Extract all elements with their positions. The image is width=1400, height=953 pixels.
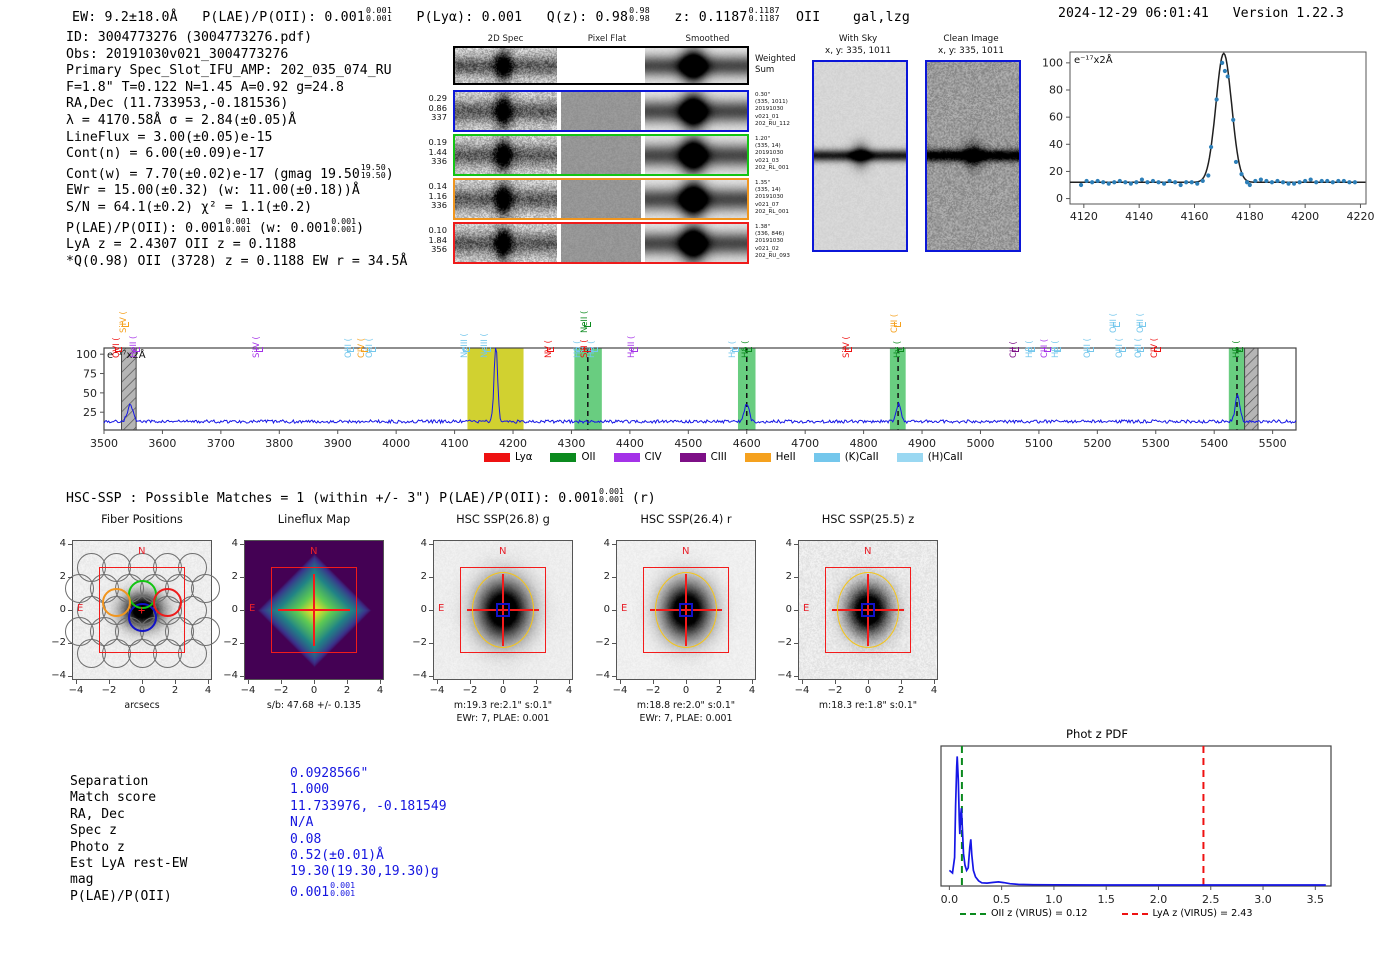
spec2d-row-meta-0: 0.30" (335, 1011) 20191030 v021_01 202_R… <box>755 92 790 128</box>
spec2d-row-stats-2: 0.14 1.16 336 <box>403 182 447 211</box>
svg-text:4000: 4000 <box>382 437 410 450</box>
legend-label-2: CIV <box>645 452 662 463</box>
xtick-mark-0-3 <box>175 680 176 684</box>
info-line-13: *Q(0.98) OII (3728) z = 0.1188 EW r = 34… <box>66 254 407 271</box>
svg-text:5300: 5300 <box>1142 437 1170 450</box>
ytick-mark-3-4 <box>612 544 616 545</box>
emission-line-tick-13 <box>591 347 598 352</box>
header-line-id: OII <box>796 10 820 25</box>
info-line-0: ID: 3004773276 (3004773276.pdf) <box>66 30 407 47</box>
spec2d-raw-sum <box>455 48 557 83</box>
match-value-5: 0.52(±0.01)Å <box>290 848 447 864</box>
xtick-mark-1-0 <box>248 680 249 684</box>
emission-line-tick-16 <box>745 347 752 352</box>
ytick-0-1: −2 <box>40 637 66 648</box>
legend-swatch-5 <box>814 453 840 462</box>
ytick-mark-2-0 <box>429 676 433 677</box>
xtick-mark-3-0 <box>620 680 621 684</box>
source-info-block: ID: 3004773276 (3004773276.pdf)Obs: 2019… <box>66 30 407 270</box>
xtick-mark-3-1 <box>653 680 654 684</box>
match-value-6: 19.30(19.30,19.30)g <box>290 864 447 880</box>
emission-line-label-8: NeIII ( <box>479 333 489 358</box>
panel-sub1-3: m:18.8 re:2.0" s:0.1" <box>586 700 786 712</box>
sky-clean-cutouts: With Skyx, y: 335, 1011Clean Imagex, y: … <box>812 34 1017 249</box>
legend-swatch-2 <box>614 453 640 462</box>
two-d-spectrum-panel: 2D SpecPixel FlatSmoothedWeighted Sum0.2… <box>437 34 767 256</box>
match-key-5: Est LyA rest-EW <box>70 856 187 872</box>
panel-title-3: HSC SSP(26.4) r <box>591 512 781 526</box>
xtick-mark-4-2 <box>868 680 869 684</box>
photz-legend-item-1: LyA z (VIRUS) = 2.43 <box>1122 908 1253 919</box>
emission-line-tick-8 <box>484 347 491 352</box>
xtick-mark-4-1 <box>835 680 836 684</box>
svg-text:4220: 4220 <box>1346 210 1374 223</box>
ytick-1-4: 4 <box>212 538 238 549</box>
compass-n-2: N <box>499 546 506 557</box>
cutout-box-1 <box>925 60 1021 252</box>
ytick-mark-0-0 <box>68 676 72 677</box>
legend-item-2: CIV <box>614 452 662 463</box>
info-line-3: F=1.8" T=0.122 N=1.45 A=0.92 g=24.8 <box>66 80 407 97</box>
svg-text:e⁻¹⁷x2Å: e⁻¹⁷x2Å <box>1074 53 1113 66</box>
emission-line-tick-0 <box>122 322 129 327</box>
compass-e-0: E <box>77 603 83 614</box>
emission-line-tick-19 <box>897 347 904 352</box>
spec2d-strip-3 <box>453 222 749 264</box>
emission-line-tick-1 <box>115 347 122 352</box>
svg-text:3.5: 3.5 <box>1307 893 1325 906</box>
ytick-mark-0-2 <box>68 610 72 611</box>
info-line-7: Cont(n) = 6.00(±0.09)e-17 <box>66 146 407 163</box>
emission-line-tick-17 <box>845 347 852 352</box>
ytick-mark-2-1 <box>429 643 433 644</box>
ytick-4-3: 2 <box>766 571 792 582</box>
spec2d-smooth-3 <box>645 224 747 262</box>
xtick-1-3: 2 <box>335 685 359 696</box>
emission-line-legend: LyαOIICIVCIIIHeII(K)CaII(H)CaII <box>484 452 963 463</box>
spec2d-smooth-0 <box>645 92 747 130</box>
ytick-mark-2-2 <box>429 610 433 611</box>
info-line-4: RA,Dec (11.733953,-0.181536) <box>66 96 407 113</box>
plae-errors-n: 0.0010.001 <box>226 217 251 234</box>
legend-label-0: Lyα <box>515 452 532 463</box>
svg-text:5000: 5000 <box>966 437 994 450</box>
xtick-mark-4-3 <box>901 680 902 684</box>
legend-swatch-0 <box>484 453 510 462</box>
spec2d-flat-2 <box>561 180 641 218</box>
header-classification: gal,lzg <box>853 10 910 25</box>
xtick-mark-0-2 <box>142 680 143 684</box>
svg-text:4120: 4120 <box>1070 210 1098 223</box>
ytick-4-0: −4 <box>766 670 792 681</box>
svg-text:3900: 3900 <box>324 437 352 450</box>
svg-text:4200: 4200 <box>499 437 527 450</box>
legend-label-3: CIII <box>711 452 727 463</box>
xtick-mark-2-0 <box>437 680 438 684</box>
header-version: Version 1.22.3 <box>1233 6 1344 21</box>
xtick-2-0: −4 <box>425 685 449 696</box>
legend-swatch-4 <box>745 453 771 462</box>
svg-text:100: 100 <box>76 348 97 361</box>
xtick-2-4: 4 <box>557 685 581 696</box>
panel-title-0: Fiber Positions <box>47 512 237 526</box>
panel-title-1: Lineflux Map <box>219 512 409 526</box>
match-value-1: 1.000 <box>290 782 447 798</box>
xtick-1-2: 0 <box>302 685 326 696</box>
compass-n-3: N <box>682 546 689 557</box>
ytick-1-2: 0 <box>212 604 238 615</box>
svg-text:4160: 4160 <box>1180 210 1208 223</box>
ytick-mark-4-0 <box>794 676 798 677</box>
legend-item-6: (H)CaII <box>897 452 963 463</box>
svg-text:5100: 5100 <box>1025 437 1053 450</box>
xtick-0-2: 0 <box>130 685 154 696</box>
xtick-0-0: −4 <box>64 685 88 696</box>
xtick-0-1: −2 <box>97 685 121 696</box>
compass-e-3: E <box>621 603 627 614</box>
ytick-0-4: 4 <box>40 538 66 549</box>
svg-text:2.0: 2.0 <box>1150 893 1168 906</box>
photz-legend-label-1: LyA z (VIRUS) = 2.43 <box>1153 908 1253 919</box>
ytick-3-1: −2 <box>584 637 610 648</box>
spec2d-row-stats-0: 0.29 0.86 337 <box>403 94 447 123</box>
header-timestamp-version: 2024-12-29 06:01:41 Version 1.22.3 <box>1058 6 1344 21</box>
ytick-1-0: −4 <box>212 670 238 681</box>
full-spectrum-svg: 2550751003500360037003800390040004100420… <box>60 275 1350 455</box>
xtick-4-1: −2 <box>823 685 847 696</box>
xtick-4-0: −4 <box>790 685 814 696</box>
match-value-3: N/A <box>290 815 447 831</box>
legend-item-1: OII <box>550 452 595 463</box>
panel-center-marker: + <box>138 606 146 614</box>
xtick-mark-2-4 <box>569 680 570 684</box>
info-line-2: Primary Spec_Slot_IFU_AMP: 202_035_074_R… <box>66 63 407 80</box>
legend-item-3: CIII <box>680 452 727 463</box>
svg-text:2.5: 2.5 <box>1202 893 1220 906</box>
svg-text:4140: 4140 <box>1125 210 1153 223</box>
cutout-title-text-1: Clean Image <box>925 34 1017 46</box>
info-line-8: Cont(w) = 7.70(±0.02)e-17 (gmag 19.5019.… <box>66 163 407 184</box>
emission-line-tick-3 <box>256 347 263 352</box>
info-line-11: P(LAE)/P(OII): 0.0010.0010.001 (w: 0.001… <box>66 217 407 238</box>
photz-pdf-plot: 0.00.51.01.52.02.53.03.5 <box>935 742 1335 902</box>
emission-line-tick-20 <box>1012 347 1019 352</box>
emission-line-tick-6 <box>369 347 376 352</box>
photz-legend-dash-1 <box>1122 913 1148 915</box>
panel-bluebox-4 <box>861 603 875 617</box>
ytick-4-4: 4 <box>766 538 792 549</box>
spec2d-weighted-sum-strip <box>453 46 749 85</box>
xtick-mark-0-0 <box>76 680 77 684</box>
spec2d-col-title-2: Smoothed <box>655 34 760 44</box>
match-key-3: Spec z <box>70 823 187 839</box>
legend-label-1: OII <box>581 452 595 463</box>
panel-bluebox-2 <box>496 603 510 617</box>
info-line-1: Obs: 20191030v021_3004773276 <box>66 47 407 64</box>
spec2d-raw-2 <box>455 180 557 218</box>
match-key-6: mag <box>70 872 187 888</box>
info-line-9: EWr = 15.00(±0.32) (w: 11.00(±0.18))Å <box>66 183 407 200</box>
match-value-4: 0.08 <box>290 832 447 848</box>
line-zoom-plot: 020406080100412041404160418042004220e⁻¹⁷… <box>1030 40 1370 255</box>
xtick-1-4: 4 <box>368 685 392 696</box>
svg-text:4700: 4700 <box>791 437 819 450</box>
xtick-4-3: 2 <box>889 685 913 696</box>
xtick-mark-3-2 <box>686 680 687 684</box>
emission-line-tick-30 <box>1236 347 1243 352</box>
panel-sub1-1: s/b: 47.68 +/- 0.135 <box>214 700 414 712</box>
xtick-2-2: 0 <box>491 685 515 696</box>
legend-label-5: (K)CaII <box>845 452 879 463</box>
svg-text:5400: 5400 <box>1200 437 1228 450</box>
legend-swatch-3 <box>680 453 706 462</box>
ytick-2-3: 2 <box>401 571 427 582</box>
photz-legend-item-0: OII z (VIRUS) = 0.12 <box>960 908 1088 919</box>
svg-text:100: 100 <box>1042 56 1063 69</box>
svg-text:4500: 4500 <box>674 437 702 450</box>
legend-swatch-1 <box>550 453 576 462</box>
info-line-6: LineFlux = 3.00(±0.05)e-15 <box>66 130 407 147</box>
legend-label-4: HeII <box>776 452 796 463</box>
xtick-mark-1-1 <box>281 680 282 684</box>
ytick-mark-4-2 <box>794 610 798 611</box>
xtick-1-1: −2 <box>269 685 293 696</box>
emission-line-tick-4 <box>347 347 354 352</box>
ytick-0-0: −4 <box>40 670 66 681</box>
header-qz: Q(z): 0.98 <box>547 10 628 25</box>
xtick-mark-2-1 <box>470 680 471 684</box>
ytick-mark-0-1 <box>68 643 72 644</box>
xtick-mark-4-0 <box>802 680 803 684</box>
emission-line-tick-28 <box>1137 347 1144 352</box>
match-key-2: RA, Dec <box>70 807 187 823</box>
compass-e-4: E <box>803 603 809 614</box>
ytick-mark-1-3 <box>240 577 244 578</box>
svg-text:4400: 4400 <box>616 437 644 450</box>
gmag-errors: 19.5019.50 <box>361 163 386 180</box>
ytick-mark-0-3 <box>68 577 72 578</box>
ytick-3-3: 2 <box>584 571 610 582</box>
ytick-mark-1-0 <box>240 676 244 677</box>
emission-line-tick-18 <box>894 322 901 327</box>
header-qz-errors: 0.980.98 <box>629 6 650 23</box>
xtick-0-4: 4 <box>196 685 220 696</box>
panel-sub1-0: arcsecs <box>42 700 242 712</box>
spec2d-col-title-1: Pixel Flat <box>562 34 652 44</box>
spec2d-row-meta-3: 1.38" (336, 846) 20191030 v021_02 202_RU… <box>755 224 790 260</box>
ytick-3-4: 4 <box>584 538 610 549</box>
cutout-title-text-0: With Sky <box>812 34 904 46</box>
ytick-mark-3-3 <box>612 577 616 578</box>
xtick-mark-0-1 <box>109 680 110 684</box>
photz-svg: 0.00.51.01.52.02.53.03.5 <box>935 742 1335 917</box>
xtick-3-2: 0 <box>674 685 698 696</box>
legend-item-5: (K)CaII <box>814 452 879 463</box>
svg-text:4300: 4300 <box>557 437 585 450</box>
header-summary-line: EW: 9.2±18.0Å P(LAE)/P(OII): 0.0010.0010… <box>72 6 910 25</box>
ytick-1-3: 2 <box>212 571 238 582</box>
ytick-mark-1-4 <box>240 544 244 545</box>
xtick-mark-2-2 <box>503 680 504 684</box>
svg-text:0: 0 <box>1056 192 1063 205</box>
xtick-mark-1-4 <box>380 680 381 684</box>
spec2d-flat-1 <box>561 136 641 174</box>
ytick-2-4: 4 <box>401 538 427 549</box>
spec2d-raw-1 <box>455 136 557 174</box>
match-key-0: Separation <box>70 774 187 790</box>
svg-text:4200: 4200 <box>1291 210 1319 223</box>
svg-text:80: 80 <box>1049 84 1063 97</box>
xtick-3-4: 4 <box>740 685 764 696</box>
svg-text:20: 20 <box>1049 165 1063 178</box>
xtick-4-2: 0 <box>856 685 880 696</box>
xtick-3-3: 2 <box>707 685 731 696</box>
header-plya: P(Lyα): 0.001 <box>416 10 522 25</box>
spec2d-raw-0 <box>455 92 557 130</box>
hsc-header-text: HSC-SSP : Possible Matches = 1 (within +… <box>66 491 598 506</box>
ytick-4-1: −2 <box>766 637 792 648</box>
svg-text:3600: 3600 <box>148 437 176 450</box>
ytick-3-2: 0 <box>584 604 610 615</box>
svg-text:3800: 3800 <box>265 437 293 450</box>
svg-text:4180: 4180 <box>1236 210 1264 223</box>
compass-e-1: E <box>249 603 255 614</box>
svg-text:4800: 4800 <box>850 437 878 450</box>
spec2d-flat-0 <box>561 92 641 130</box>
ytick-mark-4-1 <box>794 643 798 644</box>
emission-line-tick-10 <box>584 322 591 327</box>
xtick-3-0: −4 <box>608 685 632 696</box>
spec2d-col-title-0: 2D Spec <box>453 34 558 44</box>
legend-item-4: HeII <box>745 452 796 463</box>
cutout-box-0 <box>812 60 908 252</box>
info-line-5: λ = 4170.58Å σ = 2.84(±0.05)Å <box>66 113 407 130</box>
panel-title-4: HSC SSP(25.5) z <box>773 512 963 526</box>
hsc-header-band: (r) <box>632 491 656 506</box>
emission-line-tick-23 <box>1054 347 1061 352</box>
svg-text:3.0: 3.0 <box>1254 893 1272 906</box>
panel-sub2-3: EWr: 7, PLAE: 0.001 <box>586 713 786 725</box>
svg-text:0.0: 0.0 <box>941 893 959 906</box>
ytick-4-2: 0 <box>766 604 792 615</box>
xtick-mark-3-4 <box>752 680 753 684</box>
photz-pdf-title: Phot z PDF <box>1066 727 1128 741</box>
hsc-ssp-header: HSC-SSP : Possible Matches = 1 (within +… <box>66 487 656 506</box>
emission-line-tick-2 <box>133 347 140 352</box>
svg-text:50: 50 <box>83 387 97 400</box>
spec2d-row-meta-1: 1.20" (335, 14) 20191030 v021_03 202_RL_… <box>755 136 789 172</box>
xtick-mark-2-3 <box>536 680 537 684</box>
emission-line-tick-24 <box>1087 347 1094 352</box>
header-ew: EW: 9.2±18.0Å <box>72 10 178 25</box>
svg-text:0.5: 0.5 <box>993 893 1011 906</box>
match-value-7: 0.0010.0010.001 <box>290 881 447 901</box>
legend-item-0: Lyα <box>484 452 532 463</box>
xtick-1-0: −4 <box>236 685 260 696</box>
match-value-2: 11.733976, -0.181549 <box>290 799 447 815</box>
panel-sub2-2: EWr: 7, PLAE: 0.001 <box>403 713 603 725</box>
ytick-mark-3-2 <box>612 610 616 611</box>
xtick-2-3: 2 <box>524 685 548 696</box>
ytick-mark-1-1 <box>240 643 244 644</box>
match-table-keys: SeparationMatch scoreRA, DecSpec zPhoto … <box>70 774 187 905</box>
info-line-12: LyA z = 2.4307 OII z = 0.1188 <box>66 237 407 254</box>
header-z-errors: 0.11870.1187 <box>749 6 780 23</box>
ytick-2-2: 0 <box>401 604 427 615</box>
spec2d-strip-0 <box>453 90 749 132</box>
svg-text:60: 60 <box>1049 111 1063 124</box>
xtick-mark-1-2 <box>314 680 315 684</box>
svg-text:40: 40 <box>1049 138 1063 151</box>
ytick-mark-0-4 <box>68 544 72 545</box>
spec2d-row-stats-1: 0.19 1.44 336 <box>403 138 447 167</box>
info-line-10: S/N = 64.1(±0.2) χ² = 1.1(±0.2) <box>66 200 407 217</box>
svg-text:4100: 4100 <box>441 437 469 450</box>
compass-n-0: N <box>138 546 145 557</box>
line-zoom-svg: 020406080100412041404160418042004220e⁻¹⁷… <box>1030 40 1370 255</box>
spec2d-row-stats-3: 0.10 1.84 356 <box>403 226 447 255</box>
emission-line-tick-21 <box>1028 347 1035 352</box>
header-plae: P(LAE)/P(OII): 0.001 <box>202 10 365 25</box>
emission-line-tick-9 <box>547 347 554 352</box>
plae-errors-w: 0.0010.001 <box>331 217 356 234</box>
match-key-1: Match score <box>70 790 187 806</box>
emission-line-tick-15 <box>732 347 739 352</box>
panel-sub1-4: m:18.3 re:1.8" s:0.1" <box>768 700 968 712</box>
xtick-mark-3-3 <box>719 680 720 684</box>
emission-line-tick-29 <box>1154 347 1161 352</box>
svg-text:5500: 5500 <box>1259 437 1287 450</box>
svg-text:25: 25 <box>83 406 97 419</box>
cutout-coords-0: x, y: 335, 1011 <box>812 46 904 58</box>
compass-n-1: N <box>310 546 317 557</box>
ytick-mark-4-4 <box>794 544 798 545</box>
svg-text:75: 75 <box>83 368 97 381</box>
panel-sub1-2: m:19.3 re:2.1" s:0.1" <box>403 700 603 712</box>
svg-text:3700: 3700 <box>207 437 235 450</box>
emission-line-tick-27 <box>1139 322 1146 327</box>
emission-line-tick-7 <box>463 347 470 352</box>
ytick-mark-2-4 <box>429 544 433 545</box>
photz-legend-label-0: OII z (VIRUS) = 0.12 <box>991 908 1088 919</box>
ytick-mark-3-1 <box>612 643 616 644</box>
spec2d-weighted-sum-label: Weighted Sum <box>755 54 796 76</box>
match-plae-errors: 0.0010.001 <box>330 881 355 898</box>
match-key-7: P(LAE)/P(OII) <box>70 889 187 905</box>
spec2d-raw-3 <box>455 224 557 262</box>
header-timestamp: 2024-12-29 06:01:41 <box>1058 6 1209 21</box>
svg-text:1.5: 1.5 <box>1097 893 1115 906</box>
ytick-2-1: −2 <box>401 637 427 648</box>
spec2d-flat-sum <box>561 48 641 83</box>
svg-text:4600: 4600 <box>733 437 761 450</box>
spec2d-smooth-1 <box>645 136 747 174</box>
xtick-3-1: −2 <box>641 685 665 696</box>
ytick-2-0: −4 <box>401 670 427 681</box>
legend-swatch-6 <box>897 453 923 462</box>
ytick-mark-3-0 <box>612 676 616 677</box>
spec2d-strip-1 <box>453 134 749 176</box>
ytick-0-3: 2 <box>40 571 66 582</box>
ytick-mark-2-3 <box>429 577 433 578</box>
match-table-values: 0.0928566"1.00011.733976, -0.181549N/A0.… <box>290 766 447 901</box>
xtick-mark-0-4 <box>208 680 209 684</box>
cutout-title-1: Clean Imagex, y: 335, 1011 <box>925 34 1017 57</box>
match-key-4: Photo z <box>70 840 187 856</box>
full-spectrum-plot: 2550751003500360037003800390040004100420… <box>60 275 1350 455</box>
spec2d-flat-3 <box>561 224 641 262</box>
svg-text:3500: 3500 <box>90 437 118 450</box>
